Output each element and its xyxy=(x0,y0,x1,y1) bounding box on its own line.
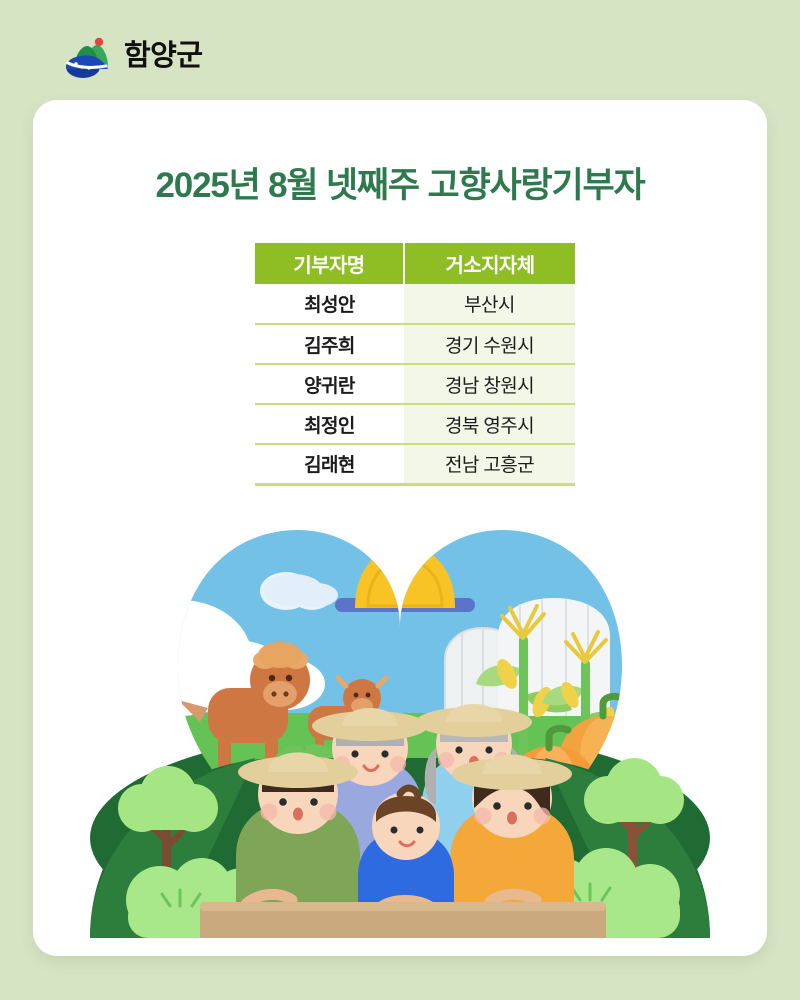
donor-table: 기부자명 거소지자체 최성안 부산시 김주희 경기 수원시 양귀란 경남 창원시 xyxy=(255,243,575,486)
poster-page: 함양군 2025년 8월 넷째주 고향사랑기부자 기부자명 거소지자체 최성안 … xyxy=(0,0,800,1000)
table-header: 기부자명 거소지자체 xyxy=(255,243,575,284)
table-row: 김주희 경기 수원시 xyxy=(255,324,575,364)
person-father xyxy=(236,753,360,913)
table-header-row: 기부자명 거소지자체 xyxy=(255,243,575,284)
cell-donor-name: 김주희 xyxy=(255,324,404,364)
farm-family-scene-illustration xyxy=(50,508,750,938)
column-header-donor-name: 기부자명 xyxy=(255,243,404,284)
table-row: 양귀란 경남 창원시 xyxy=(255,364,575,404)
table-row: 최성안 부산시 xyxy=(255,284,575,324)
cell-region: 경남 창원시 xyxy=(404,364,575,404)
table-row: 최정인 경북 영주시 xyxy=(255,404,575,444)
person-mother xyxy=(450,755,574,913)
cell-region: 부산시 xyxy=(404,284,575,324)
brand-name: 함양군 xyxy=(124,42,203,71)
page-title: 2025년 8월 넷째주 고향사랑기부자 xyxy=(33,157,767,208)
wooden-table xyxy=(200,902,606,938)
table-row: 김래현 전남 고흥군 xyxy=(255,444,575,484)
column-header-region: 거소지자체 xyxy=(404,243,575,284)
cell-donor-name: 김래현 xyxy=(255,444,404,484)
table-body: 최성안 부산시 김주희 경기 수원시 양귀란 경남 창원시 최정인 경북 영주시… xyxy=(255,284,575,484)
cell-region: 경북 영주시 xyxy=(404,404,575,444)
hamyang-county-mountain-logo-icon xyxy=(62,33,112,79)
cell-region: 전남 고흥군 xyxy=(404,444,575,484)
cell-donor-name: 양귀란 xyxy=(255,364,404,404)
cell-donor-name: 최성안 xyxy=(255,284,404,324)
brand-header: 함양군 xyxy=(62,33,203,79)
cell-region: 경기 수원시 xyxy=(404,324,575,364)
content-card: 2025년 8월 넷째주 고향사랑기부자 기부자명 거소지자체 최성안 부산시 … xyxy=(33,100,767,956)
cell-donor-name: 최정인 xyxy=(255,404,404,444)
